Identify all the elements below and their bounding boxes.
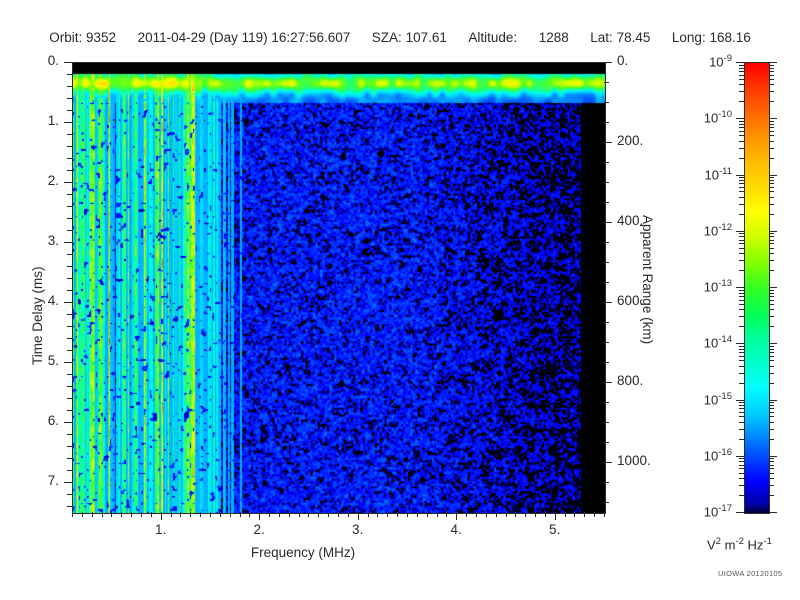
x-axis-minor-tick xyxy=(180,512,181,517)
x-axis-minor-tick xyxy=(289,512,290,517)
colorbar-major-tick-right xyxy=(769,343,777,344)
y-axis-right-minor-tick xyxy=(604,442,609,443)
y-axis-right-major-tick xyxy=(604,302,612,303)
x-axis-tick-label: 1. xyxy=(155,522,166,537)
colorbar-major-tick-right xyxy=(769,512,777,513)
colorbar-minor-tick-right xyxy=(769,141,774,142)
colorbar-major-tick-left xyxy=(736,231,744,232)
colorbar-major-tick-right xyxy=(769,118,777,119)
colorbar-minor-tick-left xyxy=(739,233,744,234)
y-axis-left-minor-tick xyxy=(67,374,72,375)
colorbar-minor-tick-right xyxy=(769,68,774,69)
colorbar-major-tick-right xyxy=(769,175,777,176)
colorbar-minor-tick-right xyxy=(769,468,774,469)
y-axis-right-major-tick xyxy=(604,462,612,463)
colorbar-minor-tick-left xyxy=(739,240,744,241)
colorbar-gradient xyxy=(744,62,770,514)
spectrogram-heatmap xyxy=(73,63,605,513)
y-axis-right-minor-tick xyxy=(604,482,609,483)
colorbar-minor-tick-right xyxy=(769,183,774,184)
colorbar-minor-tick-right xyxy=(769,127,774,128)
x-axis-title: Frequency (MHz) xyxy=(251,545,355,560)
colorbar-minor-tick-right xyxy=(769,75,774,76)
colorbar-minor-tick-left xyxy=(739,458,744,459)
colorbar-minor-tick-right xyxy=(769,478,774,479)
colorbar-minor-tick-left xyxy=(739,127,744,128)
x-axis-minor-tick xyxy=(594,512,595,517)
colorbar-minor-tick-left xyxy=(739,383,744,384)
x-axis-minor-tick xyxy=(220,512,221,517)
colorbar-minor-tick-right xyxy=(769,248,774,249)
y-axis-right-minor-tick xyxy=(604,162,609,163)
colorbar-minor-tick-left xyxy=(739,304,744,305)
colorbar-minor-tick-left xyxy=(739,293,744,294)
colorbar-minor-tick-right xyxy=(769,71,774,72)
colorbar-minor-tick-left xyxy=(739,68,744,69)
colorbar-tick-label: 10-12 xyxy=(704,222,732,238)
colorbar-minor-tick-right xyxy=(769,236,774,237)
colorbar-minor-tick-right xyxy=(769,349,774,350)
y-axis-left-minor-tick xyxy=(67,410,72,411)
x-axis-minor-tick xyxy=(377,512,378,517)
colorbar-minor-tick-left xyxy=(739,412,744,413)
colorbar-major-tick-left xyxy=(736,512,744,513)
y-axis-right-title: Apparent Range (km) xyxy=(640,215,655,344)
colorbar-tick-label: 10-14 xyxy=(704,334,732,350)
latitude-value: 78.45 xyxy=(617,30,651,45)
colorbar-minor-tick-left xyxy=(739,187,744,188)
colorbar-minor-tick-left xyxy=(739,300,744,301)
x-axis-minor-tick xyxy=(151,512,152,517)
x-axis-tick-label: 3. xyxy=(352,522,363,537)
colorbar-minor-tick-right xyxy=(769,309,774,310)
y-axis-left-major-tick xyxy=(64,62,72,63)
orbit-label: Orbit: xyxy=(49,30,82,45)
x-axis-minor-tick xyxy=(387,512,388,517)
x-axis-minor-tick xyxy=(190,512,191,517)
colorbar-minor-tick-right xyxy=(769,383,774,384)
x-axis-minor-tick xyxy=(299,512,300,517)
y-axis-left-minor-tick xyxy=(67,194,72,195)
x-axis-minor-tick xyxy=(318,512,319,517)
x-axis-minor-tick xyxy=(308,512,309,517)
x-axis-minor-tick xyxy=(131,512,132,517)
unit-v: V xyxy=(707,537,716,552)
observation-datetime: 2011-04-29 (Day 119) 16:27:56.607 xyxy=(138,30,351,45)
colorbar-tick-label: 10-10 xyxy=(704,109,732,125)
colorbar-minor-tick-left xyxy=(739,124,744,125)
x-axis-minor-tick xyxy=(210,512,211,517)
x-axis-minor-tick xyxy=(230,512,231,517)
footer-credit: UIOWA 20120105 xyxy=(718,569,782,578)
y-axis-right-minor-tick xyxy=(604,362,609,363)
x-axis-minor-tick xyxy=(82,512,83,517)
y-axis-right-minor-tick xyxy=(604,82,609,83)
colorbar-minor-tick-right xyxy=(769,243,774,244)
y-axis-right-minor-tick xyxy=(604,182,609,183)
y-axis-left-major-tick xyxy=(64,182,72,183)
colorbar-minor-tick-right xyxy=(769,260,774,261)
x-axis-minor-tick xyxy=(584,512,585,517)
x-axis-minor-tick xyxy=(506,512,507,517)
y-axis-right-minor-tick xyxy=(604,122,609,123)
y-axis-left-minor-tick xyxy=(67,230,72,231)
colorbar-minor-tick-left xyxy=(739,135,744,136)
y-axis-left-minor-tick xyxy=(67,170,72,171)
altitude-label: Altitude: xyxy=(468,30,517,45)
colorbar-minor-tick-left xyxy=(739,360,744,361)
colorbar-minor-tick-left xyxy=(739,204,744,205)
y-axis-left-minor-tick xyxy=(67,338,72,339)
colorbar-minor-tick-left xyxy=(739,158,744,159)
colorbar-minor-tick-right xyxy=(769,131,774,132)
y-axis-left-tick-label: 7. xyxy=(48,473,59,488)
longitude-value: 168.16 xyxy=(709,30,750,45)
colorbar-minor-tick-left xyxy=(739,290,744,291)
colorbar-minor-tick-left xyxy=(739,253,744,254)
y-axis-left-title: Time Delay (ms) xyxy=(30,266,45,365)
colorbar-minor-tick-right xyxy=(769,180,774,181)
y-axis-left-tick-label: 5. xyxy=(48,353,59,368)
x-axis-minor-tick xyxy=(565,512,566,517)
x-axis-minor-tick xyxy=(427,512,428,517)
x-axis-minor-tick xyxy=(200,512,201,517)
colorbar-minor-tick-right xyxy=(769,326,774,327)
colorbar-minor-tick-right xyxy=(769,240,774,241)
y-axis-left-tick-label: 3. xyxy=(48,233,59,248)
y-axis-left-minor-tick xyxy=(67,266,72,267)
colorbar-minor-tick-left xyxy=(739,197,744,198)
unit-hz-exp: -1 xyxy=(763,536,771,547)
x-axis-tick-label: 4. xyxy=(451,522,462,537)
colorbar-minor-tick-left xyxy=(739,248,744,249)
colorbar-tick-label: 10-11 xyxy=(705,166,733,182)
colorbar-minor-tick-right xyxy=(769,422,774,423)
x-axis-minor-tick xyxy=(574,512,575,517)
colorbar-minor-tick-left xyxy=(739,191,744,192)
y-axis-left-minor-tick xyxy=(67,386,72,387)
colorbar-minor-tick-right xyxy=(769,79,774,80)
y-axis-left-minor-tick xyxy=(67,446,72,447)
colorbar-minor-tick-left xyxy=(739,260,744,261)
x-axis-minor-tick xyxy=(545,512,546,517)
x-axis-minor-tick xyxy=(368,512,369,517)
x-axis-minor-tick xyxy=(466,512,467,517)
y-axis-right-minor-tick xyxy=(604,102,609,103)
colorbar-minor-tick-left xyxy=(739,236,744,237)
colorbar-minor-tick-right xyxy=(769,473,774,474)
colorbar-minor-tick-right xyxy=(769,233,774,234)
colorbar-minor-tick-right xyxy=(769,402,774,403)
colorbar-major-tick-right xyxy=(769,287,777,288)
x-axis-minor-tick xyxy=(417,512,418,517)
colorbar-major-tick-left xyxy=(736,456,744,457)
colorbar-minor-tick-left xyxy=(739,495,744,496)
x-axis-minor-tick xyxy=(515,512,516,517)
colorbar-minor-tick-left xyxy=(739,366,744,367)
colorbar-minor-tick-right xyxy=(769,439,774,440)
colorbar-minor-tick-left xyxy=(739,141,744,142)
x-axis-minor-tick xyxy=(496,512,497,517)
longitude-label: Long: xyxy=(672,30,706,45)
x-axis-minor-tick xyxy=(535,512,536,517)
colorbar-minor-tick-left xyxy=(739,429,744,430)
colorbar-minor-tick-right xyxy=(769,204,774,205)
colorbar-minor-tick-left xyxy=(739,296,744,297)
y-axis-left-minor-tick xyxy=(67,206,72,207)
y-axis-left-minor-tick xyxy=(67,278,72,279)
y-axis-left-minor-tick xyxy=(67,470,72,471)
colorbar-minor-tick-right xyxy=(769,352,774,353)
colorbar-major-tick-left xyxy=(736,62,744,63)
colorbar-minor-tick-right xyxy=(769,187,774,188)
y-axis-left-major-tick xyxy=(64,242,72,243)
colorbar-minor-tick-left xyxy=(739,65,744,66)
colorbar-minor-tick-right xyxy=(769,416,774,417)
colorbar-tick-label: 10-17 xyxy=(704,503,732,519)
unit-m: m xyxy=(725,537,736,552)
x-axis-minor-tick xyxy=(446,512,447,517)
x-axis-major-tick xyxy=(555,512,556,520)
colorbar-minor-tick-left xyxy=(739,485,744,486)
y-axis-right-major-tick xyxy=(604,62,612,63)
colorbar-minor-tick-right xyxy=(769,465,774,466)
unit-v-exp: 2 xyxy=(716,536,721,547)
x-axis-minor-tick xyxy=(92,512,93,517)
x-axis-minor-tick xyxy=(269,512,270,517)
x-axis-minor-tick xyxy=(171,512,172,517)
colorbar-minor-tick-right xyxy=(769,65,774,66)
colorbar-minor-tick-right xyxy=(769,458,774,459)
colorbar-minor-tick-right xyxy=(769,412,774,413)
colorbar-tick-label: 10-16 xyxy=(704,447,732,463)
colorbar-major-tick-left xyxy=(736,400,744,401)
y-axis-right-minor-tick xyxy=(604,242,609,243)
y-axis-right-tick-label: 0. xyxy=(617,53,628,68)
colorbar-minor-tick-left xyxy=(739,214,744,215)
colorbar-minor-tick-right xyxy=(769,290,774,291)
header-metadata: Orbit: 9352 2011-04-29 (Day 119) 16:27:5… xyxy=(0,30,800,45)
colorbar-minor-tick-right xyxy=(769,316,774,317)
colorbar-minor-tick-right xyxy=(769,304,774,305)
y-axis-left-minor-tick xyxy=(67,98,72,99)
colorbar-major-tick-left xyxy=(736,343,744,344)
colorbar-major-tick-left xyxy=(736,287,744,288)
colorbar-minor-tick-right xyxy=(769,429,774,430)
x-axis-minor-tick xyxy=(141,512,142,517)
colorbar-minor-tick-right xyxy=(769,214,774,215)
colorbar-minor-tick-right xyxy=(769,300,774,301)
colorbar-minor-tick-left xyxy=(739,121,744,122)
colorbar-minor-tick-left xyxy=(739,465,744,466)
colorbar-minor-tick-right xyxy=(769,408,774,409)
y-axis-right-major-tick xyxy=(604,382,612,383)
colorbar-minor-tick-left xyxy=(739,468,744,469)
x-axis-major-tick xyxy=(161,512,162,520)
x-axis-minor-tick xyxy=(407,512,408,517)
colorbar-minor-tick-left xyxy=(739,356,744,357)
y-axis-left-major-tick xyxy=(64,302,72,303)
y-axis-left-tick-label: 6. xyxy=(48,413,59,428)
unit-m-exp: -2 xyxy=(735,536,743,547)
colorbar-major-tick-right xyxy=(769,400,777,401)
colorbar-minor-tick-left xyxy=(739,346,744,347)
colorbar-minor-tick-left xyxy=(739,177,744,178)
x-axis-tick-label: 2. xyxy=(254,522,265,537)
colorbar-minor-tick-right xyxy=(769,91,774,92)
colorbar-minor-tick-left xyxy=(739,461,744,462)
colorbar-minor-tick-left xyxy=(739,478,744,479)
colorbar-minor-tick-left xyxy=(739,439,744,440)
y-axis-left-major-tick xyxy=(64,122,72,123)
colorbar-minor-tick-right xyxy=(769,253,774,254)
colorbar-minor-tick-right xyxy=(769,124,774,125)
colorbar-minor-tick-right xyxy=(769,360,774,361)
colorbar-minor-tick-left xyxy=(739,316,744,317)
x-axis-minor-tick xyxy=(249,512,250,517)
x-axis-minor-tick xyxy=(604,512,605,517)
altitude-value: 1288 xyxy=(539,30,569,45)
y-axis-left-minor-tick xyxy=(67,110,72,111)
colorbar-minor-tick-right xyxy=(769,148,774,149)
colorbar-minor-tick-left xyxy=(739,270,744,271)
colorbar-minor-tick-left xyxy=(739,79,744,80)
y-axis-left-minor-tick xyxy=(67,290,72,291)
y-axis-right-major-tick xyxy=(604,222,612,223)
x-axis-minor-tick xyxy=(348,512,349,517)
y-axis-left-minor-tick xyxy=(67,86,72,87)
y-axis-left-major-tick xyxy=(64,422,72,423)
x-axis-minor-tick xyxy=(437,512,438,517)
x-axis-minor-tick xyxy=(476,512,477,517)
x-axis-minor-tick xyxy=(397,512,398,517)
colorbar-minor-tick-left xyxy=(739,183,744,184)
colorbar-minor-tick-right xyxy=(769,197,774,198)
y-axis-left-major-tick xyxy=(64,482,72,483)
x-axis-major-tick xyxy=(358,512,359,520)
colorbar-minor-tick-right xyxy=(769,366,774,367)
colorbar-minor-tick-right xyxy=(769,461,774,462)
x-axis-minor-tick xyxy=(121,512,122,517)
colorbar-tick-label: 10-15 xyxy=(704,391,732,407)
colorbar-minor-tick-left xyxy=(739,326,744,327)
colorbar-minor-tick-right xyxy=(769,293,774,294)
y-axis-left-minor-tick xyxy=(67,134,72,135)
x-axis-minor-tick xyxy=(328,512,329,517)
x-axis-major-tick xyxy=(456,512,457,520)
x-axis-minor-tick xyxy=(102,512,103,517)
y-axis-left-minor-tick xyxy=(67,350,72,351)
x-axis-minor-tick xyxy=(338,512,339,517)
y-axis-right-minor-tick xyxy=(604,202,609,203)
colorbar-minor-tick-right xyxy=(769,135,774,136)
y-axis-left-major-tick xyxy=(64,362,72,363)
y-axis-right-minor-tick xyxy=(604,402,609,403)
x-axis-tick-label: 5. xyxy=(549,522,560,537)
colorbar-major-tick-left xyxy=(736,175,744,176)
y-axis-left-minor-tick xyxy=(67,398,72,399)
x-axis-minor-tick xyxy=(486,512,487,517)
sza-value: 107.61 xyxy=(406,30,447,45)
colorbar-minor-tick-left xyxy=(739,405,744,406)
colorbar-minor-tick-left xyxy=(739,71,744,72)
y-axis-left-minor-tick xyxy=(67,314,72,315)
y-axis-left-tick-label: 0. xyxy=(48,53,59,68)
x-axis-minor-tick xyxy=(72,512,73,517)
y-axis-left-tick-label: 1. xyxy=(48,113,59,128)
colorbar-minor-tick-left xyxy=(739,352,744,353)
colorbar-minor-tick-left xyxy=(739,180,744,181)
y-axis-left-minor-tick xyxy=(67,494,72,495)
colorbar-tick-label: 10-13 xyxy=(704,278,732,294)
colorbar-major-tick-right xyxy=(769,456,777,457)
y-axis-right-minor-tick xyxy=(604,262,609,263)
colorbar-minor-tick-right xyxy=(769,191,774,192)
colorbar-minor-tick-left xyxy=(739,422,744,423)
y-axis-right-tick-label: 200. xyxy=(617,133,643,148)
x-axis-minor-tick xyxy=(240,512,241,517)
colorbar-minor-tick-left xyxy=(739,84,744,85)
y-axis-right-tick-label: 1000. xyxy=(617,453,651,468)
colorbar-minor-tick-right xyxy=(769,356,774,357)
y-axis-left-tick-label: 4. xyxy=(48,293,59,308)
colorbar-minor-tick-right xyxy=(769,158,774,159)
y-axis-left-minor-tick xyxy=(67,458,72,459)
colorbar-major-tick-right xyxy=(769,231,777,232)
colorbar-tick-label: 10-9 xyxy=(709,53,732,69)
colorbar-major-tick-left xyxy=(736,118,744,119)
y-axis-right-minor-tick xyxy=(604,342,609,343)
y-axis-left-minor-tick xyxy=(67,434,72,435)
y-axis-left-minor-tick xyxy=(67,506,72,507)
y-axis-right-tick-label: 800. xyxy=(617,373,643,388)
y-axis-left-tick-label: 2. xyxy=(48,173,59,188)
x-axis-minor-tick xyxy=(111,512,112,517)
colorbar-minor-tick-left xyxy=(739,131,744,132)
colorbar-minor-tick-right xyxy=(769,405,774,406)
x-axis-minor-tick xyxy=(279,512,280,517)
y-axis-right-minor-tick xyxy=(604,502,609,503)
y-axis-right-minor-tick xyxy=(604,322,609,323)
sza-label: SZA: xyxy=(372,30,402,45)
x-axis-minor-tick xyxy=(525,512,526,517)
colorbar-minor-tick-right xyxy=(769,346,774,347)
colorbar-minor-tick-left xyxy=(739,243,744,244)
colorbar-minor-tick-right xyxy=(769,495,774,496)
y-axis-left-minor-tick xyxy=(67,158,72,159)
colorbar-minor-tick-right xyxy=(769,373,774,374)
x-axis-major-tick xyxy=(259,512,260,520)
colorbar-minor-tick-left xyxy=(739,91,744,92)
colorbar-minor-tick-right xyxy=(769,84,774,85)
y-axis-left-minor-tick xyxy=(67,254,72,255)
colorbar-minor-tick-left xyxy=(739,408,744,409)
y-axis-right-major-tick xyxy=(604,142,612,143)
colorbar-minor-tick-right xyxy=(769,296,774,297)
orbit-value: 9352 xyxy=(86,30,116,45)
colorbar-minor-tick-left xyxy=(739,101,744,102)
colorbar-minor-tick-left xyxy=(739,148,744,149)
latitude-label: Lat: xyxy=(590,30,613,45)
y-axis-left-minor-tick xyxy=(67,218,72,219)
colorbar-minor-tick-right xyxy=(769,270,774,271)
colorbar-minor-tick-left xyxy=(739,473,744,474)
colorbar-minor-tick-left xyxy=(739,402,744,403)
y-axis-right-minor-tick xyxy=(604,282,609,283)
colorbar-minor-tick-right xyxy=(769,177,774,178)
colorbar-minor-tick-right xyxy=(769,121,774,122)
colorbar-minor-tick-left xyxy=(739,349,744,350)
